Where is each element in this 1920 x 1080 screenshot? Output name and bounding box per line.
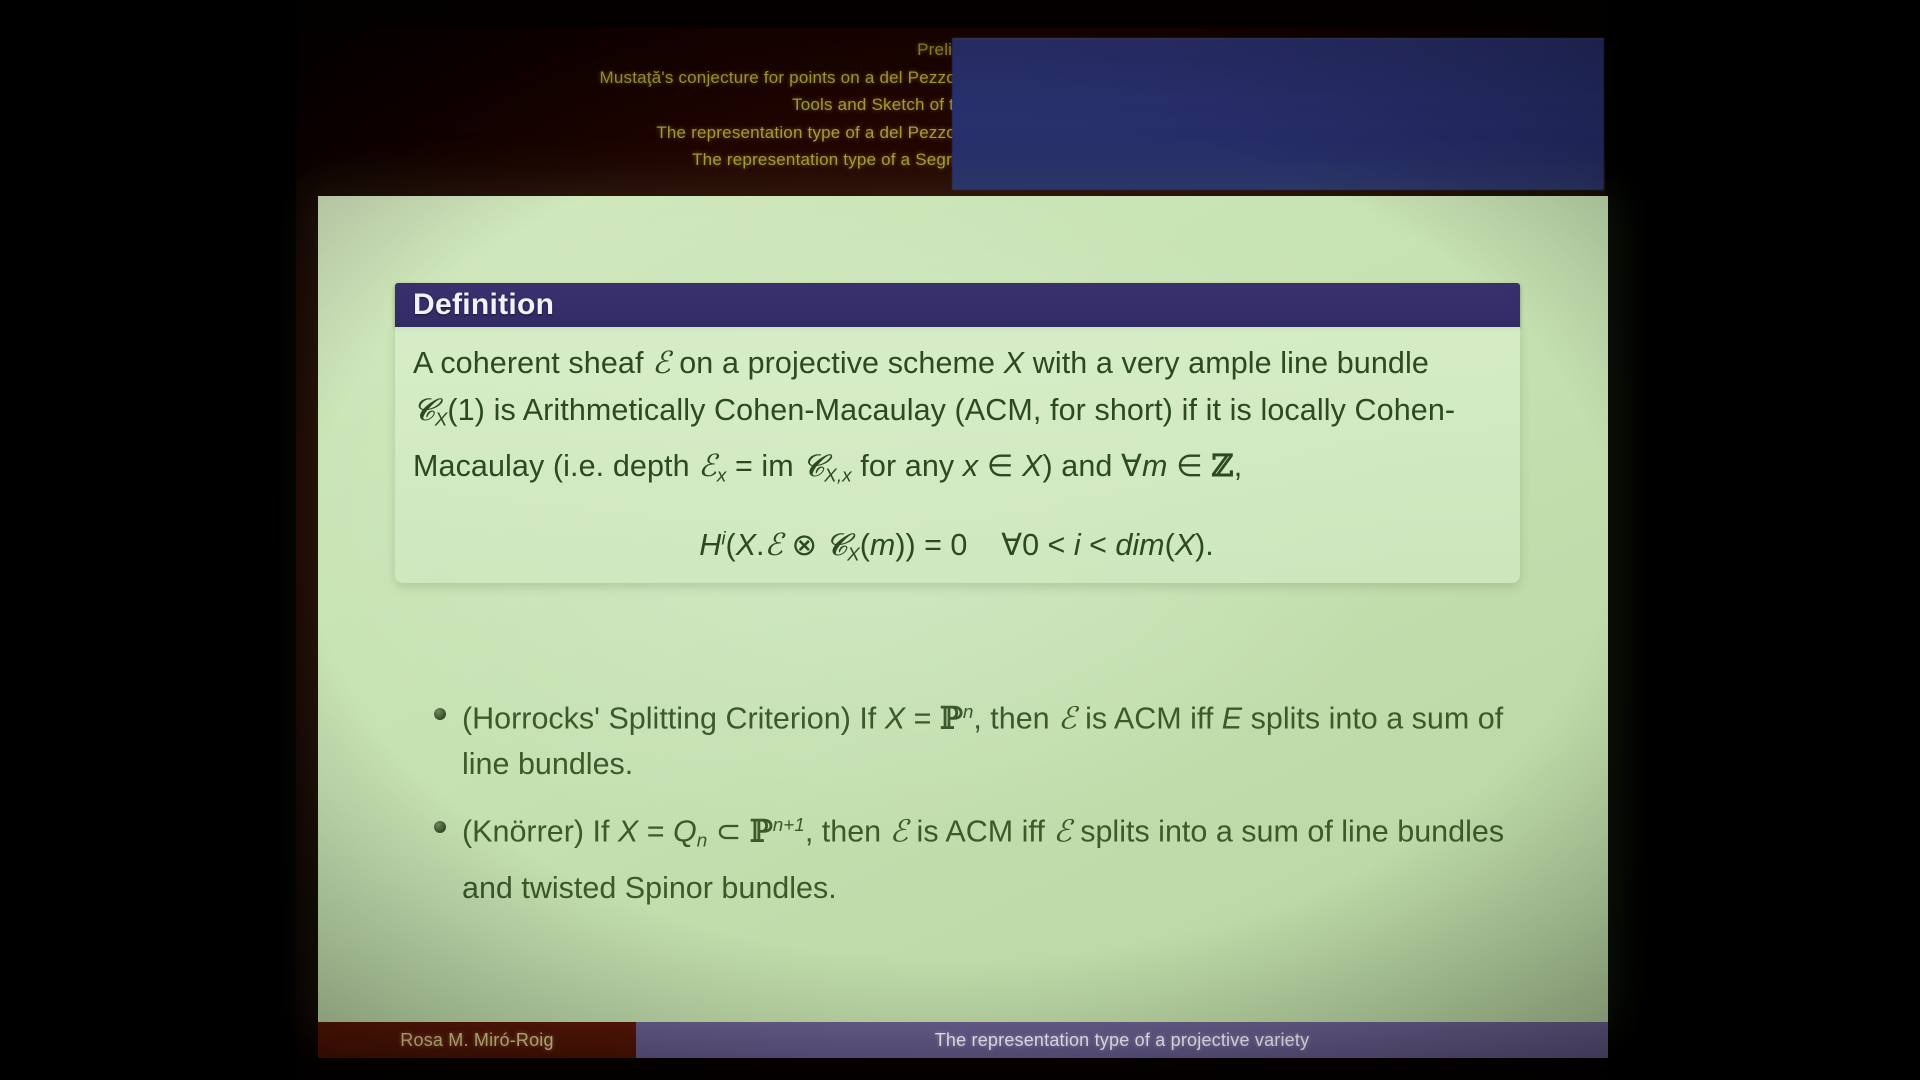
beamer-nav-header: Preliminaries Mustaţă's conjecture for p… [318, 36, 1018, 196]
projection-top-edge [296, 0, 1606, 28]
footer-talk-title: The representation type of a projective … [636, 1022, 1608, 1058]
slide-footer: Rosa M. Miró-Roig The representation typ… [318, 1022, 1608, 1058]
nav-header-line-1: Mustaţă's conjecture for points on a del… [318, 64, 1018, 92]
projection-bottom-edge [296, 1055, 1606, 1080]
bullet-dot-icon [434, 821, 446, 833]
nav-header-line-4: The representation type of a Segre varie… [318, 146, 1018, 174]
list-item: (Knörrer) If X = Qn ⊂ ℙn+1, then ℰ is AC… [410, 803, 1550, 911]
nav-header-line-3: The representation type of a del Pezzo s… [318, 119, 1018, 147]
nav-mini-frames-block [952, 38, 1604, 190]
definition-block-title: Definition [395, 288, 554, 322]
definition-block-body: A coherent sheaf ℰ on a projective schem… [395, 327, 1520, 583]
bullet-dot-icon [434, 708, 446, 720]
nav-header-line-2: Tools and Sketch of the proof [318, 91, 1018, 119]
definition-equation: Hi(X.ℰ ⊗ 𝓒X(m)) = 0 ∀0 < i < dim(X). [413, 528, 1500, 566]
footer-author: Rosa M. Miró-Roig [318, 1022, 636, 1058]
list-item: (Horrocks' Splitting Criterion) If X = ℙ… [410, 690, 1550, 787]
projected-slide-photo: Preliminaries Mustaţă's conjecture for p… [0, 0, 1920, 1080]
definition-block: Definition A coherent sheaf ℰ on a proje… [395, 283, 1520, 655]
nav-header-line-0: Preliminaries [318, 36, 1018, 64]
definition-paragraph: A coherent sheaf ℰ on a projective schem… [413, 340, 1500, 500]
definition-block-title-bar: Definition [395, 283, 1520, 327]
bullet-list: (Horrocks' Splitting Criterion) If X = ℙ… [410, 690, 1550, 927]
